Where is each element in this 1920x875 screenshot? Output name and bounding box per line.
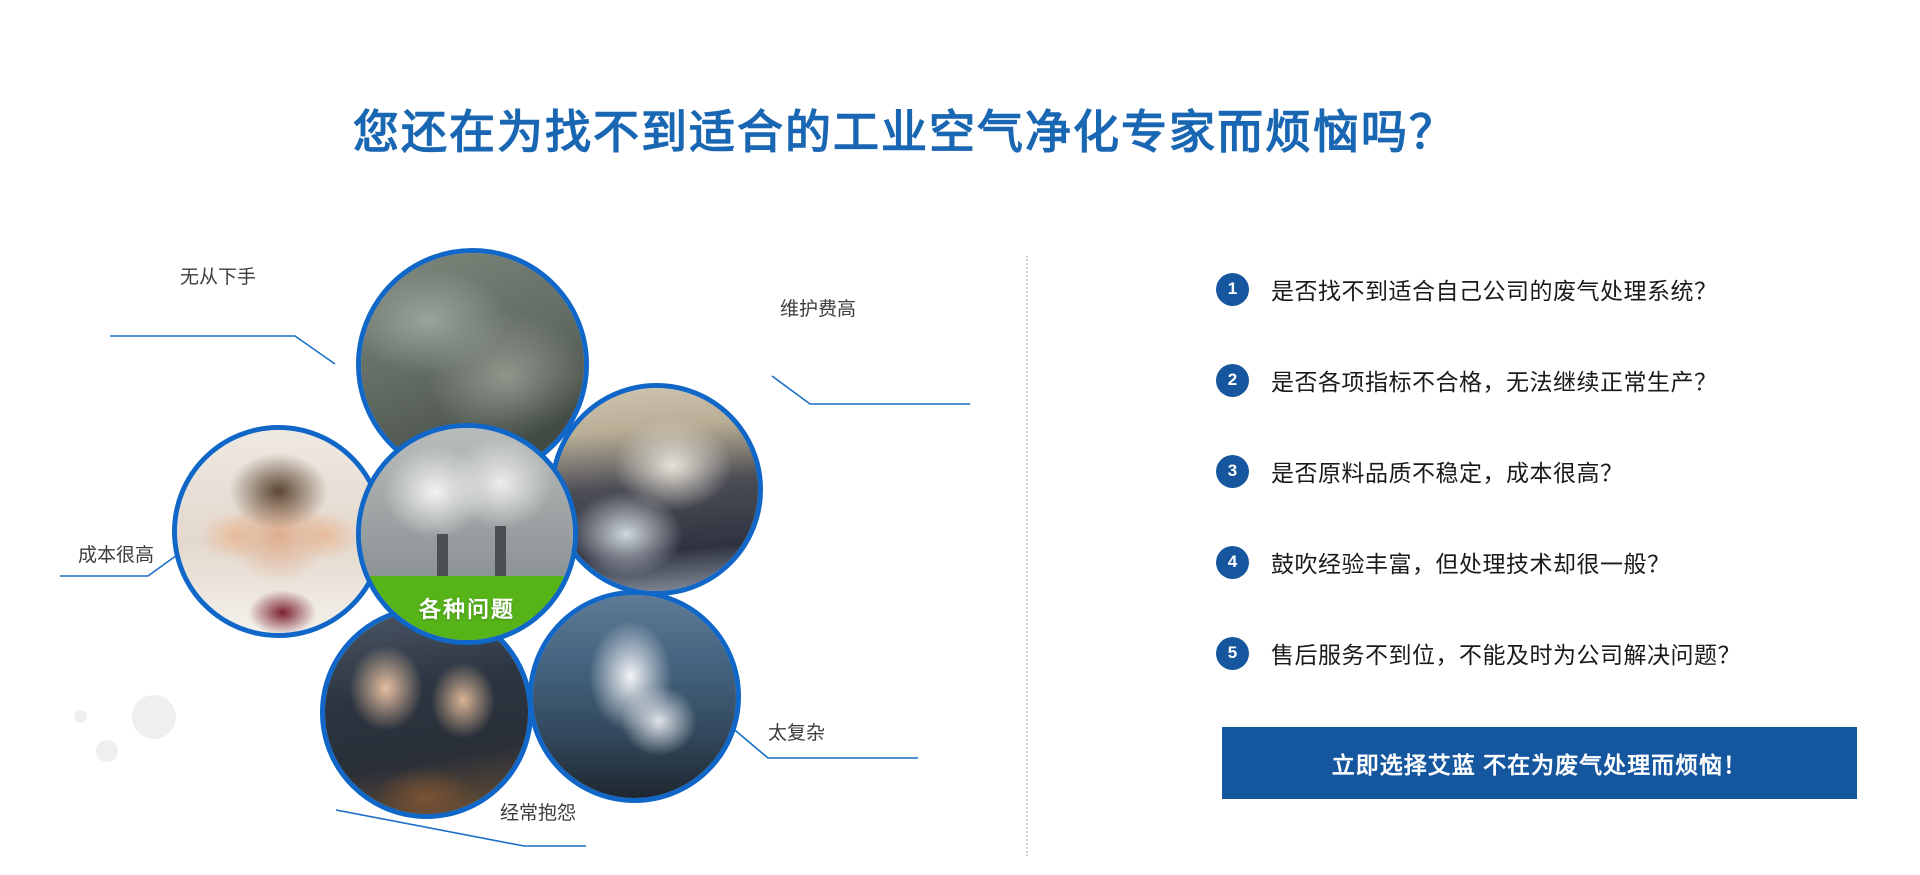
question-badge-1: 1 xyxy=(1216,273,1249,306)
list-item: 2 是否各项指标不合格，无法继续正常生产？ xyxy=(1216,349,1876,411)
questions-list: 1 是否找不到适合自己公司的废气处理系统？ 2 是否各项指标不合格，无法继续正常… xyxy=(1216,258,1876,713)
question-badge-5: 5 xyxy=(1216,637,1249,670)
question-text-5: 售后服务不到位，不能及时为公司解决问题？ xyxy=(1271,636,1741,670)
bubble-headache-man xyxy=(172,425,385,638)
list-item: 1 是否找不到适合自己公司的废气处理系统？ xyxy=(1216,258,1876,320)
decorative-dot xyxy=(96,740,118,762)
column-divider xyxy=(1026,256,1028,856)
leader-line-no-starting-point xyxy=(110,326,360,366)
headache-man-photo xyxy=(177,430,380,633)
bubble-center-core: 各种问题 xyxy=(356,423,578,645)
callout-high-maintenance-cost: 维护费高 xyxy=(780,294,856,321)
question-text-3: 是否原料品质不稳定，成本很高？ xyxy=(1271,454,1624,488)
smoke-hill-photo xyxy=(555,388,758,591)
decorative-dot xyxy=(74,710,87,723)
question-badge-3: 3 xyxy=(1216,455,1249,488)
question-badge-2: 2 xyxy=(1216,364,1249,397)
list-item: 3 是否原料品质不稳定，成本很高？ xyxy=(1216,440,1876,502)
cta-button[interactable]: 立即选择艾蓝 不在为废气处理而烦恼！ xyxy=(1222,727,1857,799)
question-text-2: 是否各项指标不合格，无法继续正常生产？ xyxy=(1271,363,1718,397)
decorative-dot xyxy=(132,695,176,739)
question-text-4: 鼓吹经验丰富，但处理技术却很一般？ xyxy=(1271,545,1671,579)
callout-too-complex: 太复杂 xyxy=(768,718,825,745)
bubble-smoke-hill xyxy=(550,383,763,596)
meeting-complaint-photo xyxy=(325,611,528,814)
callout-high-cost: 成本很高 xyxy=(78,540,154,567)
promo-section: 您还在为找不到适合的工业空气净化专家而烦恼吗？ xyxy=(0,0,1920,875)
list-item: 5 售后服务不到位，不能及时为公司解决问题？ xyxy=(1216,622,1876,684)
page-title: 您还在为找不到适合的工业空气净化专家而烦恼吗？ xyxy=(0,96,1865,162)
center-label-band: 各种问题 xyxy=(361,576,573,640)
cta-button-label: 立即选择艾蓝 不在为废气处理而烦恼！ xyxy=(1332,746,1747,780)
question-text-1: 是否找不到适合自己公司的废气处理系统？ xyxy=(1271,272,1718,306)
center-label-text: 各种问题 xyxy=(419,592,515,624)
callout-no-starting-point: 无从下手 xyxy=(180,262,256,289)
problems-infographic: 各种问题 无从下手 维护费高 成本很高 太复杂 经常抱怨 xyxy=(60,240,1000,860)
list-item: 4 鼓吹经验丰富，但处理技术却很一般？ xyxy=(1216,531,1876,593)
question-badge-4: 4 xyxy=(1216,546,1249,579)
callout-frequent-complaints: 经常抱怨 xyxy=(500,798,576,825)
